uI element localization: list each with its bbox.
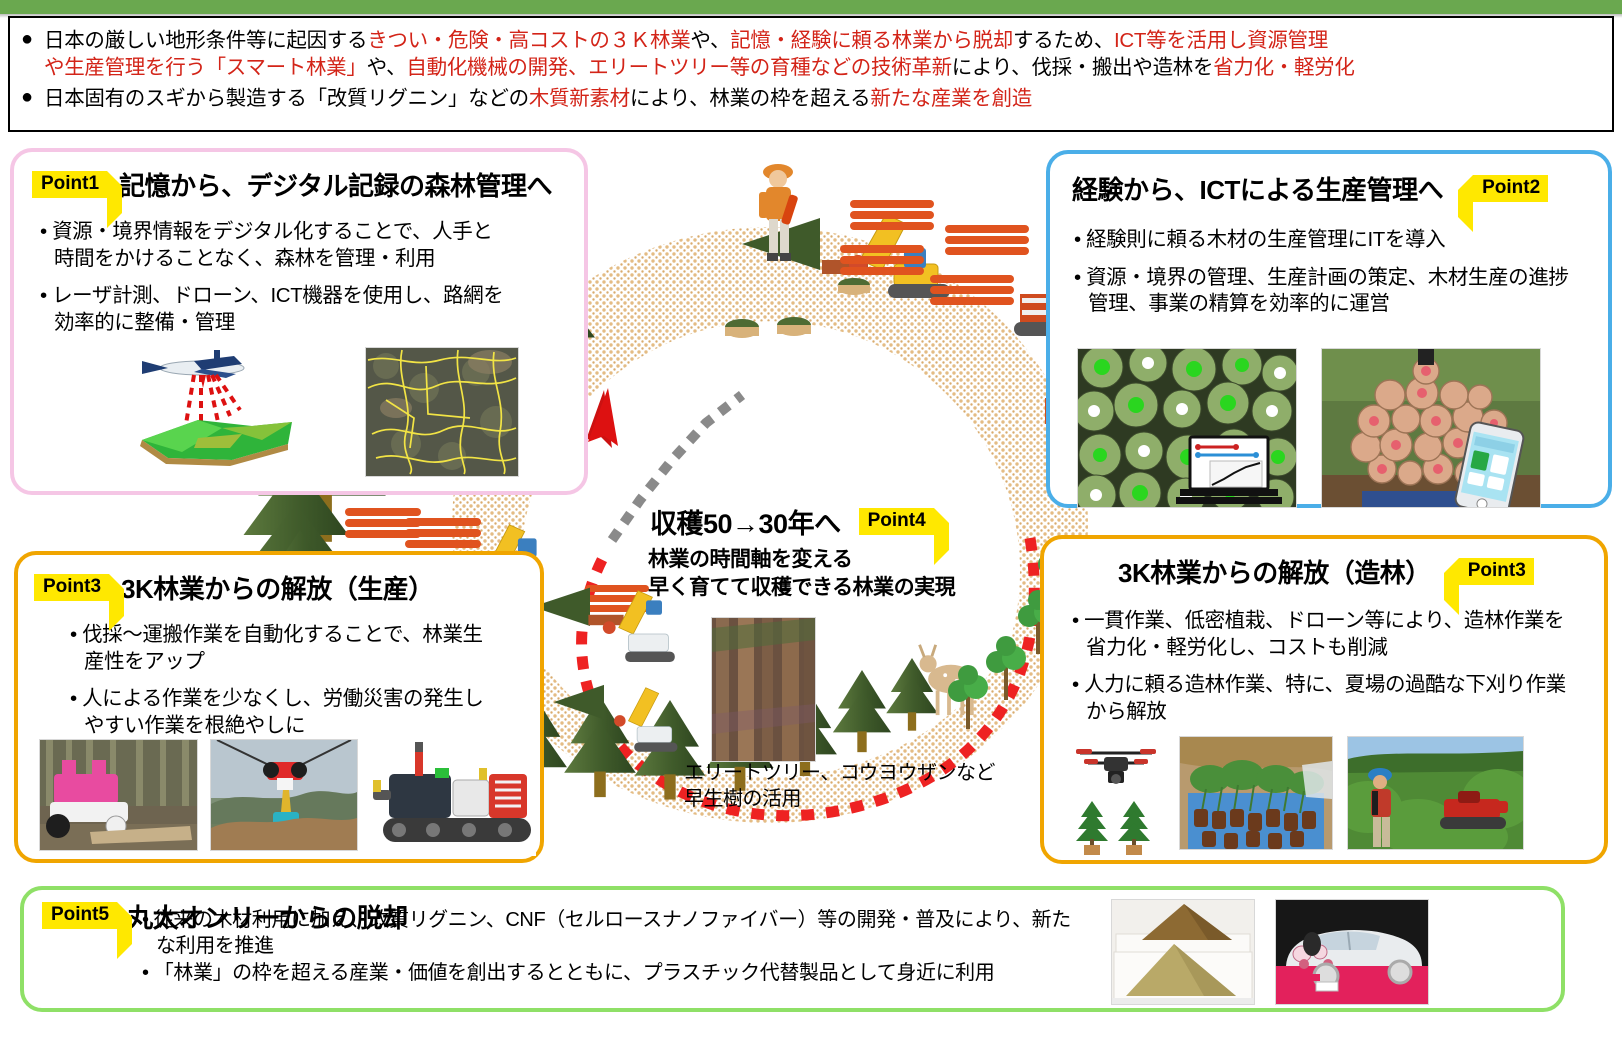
point4-caption-line-1: エリートツリー、コウヨウザンなど [684,760,995,786]
point3-afforestation-bullet-2: 人力に頼る造林作業、特に、夏場の過酷な下刈り作業から解放 [1072,672,1570,725]
point1-header: Point1 記憶から、デジタル記録の森林管理へ [32,166,584,203]
header-line-3: 日本固有のスギから製造する「改質リグニン」などの木質新素材により、林業の枠を超え… [44,85,1032,112]
mature-cedar-stand-photo [712,618,815,761]
summary-header-box: ● 日本の厳しい地形条件等に起因するきつい・危険・高コストの３Ｋ林業や、記憶・経… [8,16,1614,132]
point1-box: Point1 記憶から、デジタル記録の森林管理へ 資源・境界情報をデジタル化する… [10,148,588,495]
point1-title: 記憶から、デジタル記録の森林管理へ [119,166,552,203]
point2-box: 経験から、ICTによる生産管理へ Point2 経験則に頼る木材の生産管理にIT… [1046,150,1612,508]
header-text-run-3: により、伐採・搬出や造林を [952,56,1213,79]
point5-bullet-2: 「林業」の枠を超える産業・価値を創出するとともに、プラスチック代替製品として身近… [142,961,1072,987]
cnf-concept-car-photo [1276,900,1428,1004]
header-line-1: 日本の厳しい地形条件等に起因するきつい・危険・高コストの３Ｋ林業や、記憶・経験に… [44,27,1355,54]
top-accent-bar [0,0,1622,14]
point3-production-bullet-2: 人による作業を少なくし、労働災害の発生しやすい作業を根絶やしに [70,686,500,739]
point4-subtext: 林業の時間軸を変える 早く育てて収穫できる林業の実現 [648,546,955,602]
point3-production-photo-row [40,740,536,856]
header-text-block-1: 日本の厳しい地形条件等に起因するきつい・危険・高コストの３Ｋ林業や、記憶・経験に… [44,27,1355,82]
point3-afforestation-bullet-list: 一貫作業、低密植栽、ドローン等により、造林作業を省力化・軽労化し、コストも削減 … [1072,608,1570,726]
point4-sub-line-2: 早く育てて収穫できる林業の実現 [648,574,955,602]
header-text-run-2: や、 [690,29,730,52]
header-text-run-0: 日本固有のスギから製造する「改質リグニン」などの [44,87,529,110]
header-text-run-0: 日本の厳しい地形条件等に起因する [44,29,367,52]
header-text-run-5: ICT等を活用し資源管理 [1114,29,1328,52]
header-bullet-row-1: ● 日本の厳しい地形条件等に起因するきつい・危険・高コストの３Ｋ林業や、記憶・経… [10,27,1612,82]
header-text-run-3: 新たな産業を創造 [870,87,1032,110]
header-text-run-1: や、 [367,56,407,79]
point1-bullet-list: 資源・境界情報をデジタル化することで、人手と時間をかけることなく、森林を管理・利… [40,219,510,337]
log-end-detection-photo [1078,349,1296,507]
point3-afforestation-photo-row [1068,737,1523,855]
point4-caption-line-2: 早生樹の活用 [684,786,995,812]
point2-bullet-list: 経験則に頼る木材の生産管理にITを導入 資源・境界の管理、生産計画の策定、木材生… [1074,227,1574,318]
bullet-glyph: ● [10,85,44,108]
point1-tag: Point1 [32,171,107,198]
point3-production-bullet-1: 伐採〜運搬作業を自動化することで、林業生産性をアップ [70,622,500,675]
header-text-run-4: するため、 [1013,29,1114,52]
point1-photo-row [102,348,518,478]
point3-afforestation-tag: Point3 [1459,558,1534,585]
tracked-forestry-vehicle-photo [371,740,536,856]
point2-header: 経験から、ICTによる生産管理へ Point2 [1072,170,1608,207]
point2-tag: Point2 [1473,175,1548,202]
header-text-run-2: 自動化機械の開発、エリートツリー等の育種などの技術革新 [406,56,951,79]
header-line-2: や生産管理を行う「スマート林業」や、自動化機械の開発、エリートツリー等の育種など… [44,54,1355,81]
point2-title: 経験から、ICTによる生産管理へ [1072,170,1443,207]
point3-afforestation-bullet-1: 一貫作業、低密植栽、ドローン等により、造林作業を省力化・軽労化し、コストも削減 [1072,608,1570,661]
bullet-glyph: ● [10,27,44,50]
point3-production-title: 3K林業からの解放（生産） [121,569,434,606]
point3-afforestation-header: 3K林業からの解放（造林） Point3 [1118,553,1604,590]
aerial-laser-survey-photo [102,348,312,478]
point2-photo-row [1078,349,1540,507]
point3-afforestation-box: 3K林業からの解放（造林） Point3 一貫作業、低密植栽、ドローン等により、… [1040,535,1608,864]
point5-photo-row [1112,900,1428,1004]
pink-harvester-robot-photo [40,740,197,850]
point4-caption: エリートツリー、コウヨウザンなど 早生樹の活用 [684,760,995,812]
container-seedlings-photo [1180,737,1332,849]
forest-road-network-map-photo [366,348,518,476]
point5-bullet-list: 従来の木材利用に加え、改質リグニン、CNF（セルロースナノファイバー）等の開発・… [142,908,1072,987]
log-pile-tagging-photo [1322,349,1540,507]
point5-tag: Point5 [42,902,117,929]
header-text-run-3: 記憶・経験に頼る林業から脱却 [730,29,1013,52]
planting-drone-photo [1068,737,1164,855]
point1-bullet-2: レーザ計測、ドローン、ICT機器を使用し、路網を効率的に整備・管理 [40,283,510,336]
header-text-run-0: や生産管理を行う「スマート林業」 [44,56,367,79]
point4-sub-line-1: 林業の時間軸を変える [648,546,955,574]
point2-bullet-1: 経験則に頼る木材の生産管理にITを導入 [1074,227,1574,254]
cable-yarding-carriage-photo [211,740,357,850]
header-text-run-4: 省力化・軽労化 [1213,56,1354,79]
point3-production-box: Point3 3K林業からの解放（生産） 伐採〜運搬作業を自動化することで、林業… [14,551,544,863]
point4-heading-row: 収穫50→30年へ Point4 [650,502,934,541]
point3-production-header: Point3 3K林業からの解放（生産） [34,569,540,606]
point3-production-tag: Point3 [34,574,109,601]
laptop-icon [1176,437,1282,504]
header-bullet-row-2: ● 日本固有のスギから製造する「改質リグニン」などの木質新素材により、林業の枠を… [10,85,1612,112]
point3-afforestation-title: 3K林業からの解放（造林） [1118,553,1431,590]
point4-heading: 収穫50→30年へ [650,502,841,541]
point5-box: Point5 丸太オンリーからの脱却 従来の木材利用に加え、改質リグニン、CNF… [20,886,1565,1012]
point3-production-bullet-list: 伐採〜運搬作業を自動化することで、林業生産性をアップ 人による作業を少なくし、労… [70,622,500,740]
remote-mower-photo [1348,737,1523,849]
header-text-run-2: により、林業の枠を超える [630,87,871,110]
header-text-run-1: 木質新素材 [529,87,630,110]
point4-tag: Point4 [859,508,934,535]
header-text-block-2: 日本固有のスギから製造する「改質リグニン」などの木質新素材により、林業の枠を超え… [44,85,1032,112]
point2-bullet-2: 資源・境界の管理、生産計画の策定、木材生産の進捗管理、事業の精算を効率的に運営 [1074,265,1574,318]
header-text-run-1: きつい・危険・高コストの３Ｋ林業 [367,29,690,52]
lignin-powder-photo [1112,900,1254,1004]
